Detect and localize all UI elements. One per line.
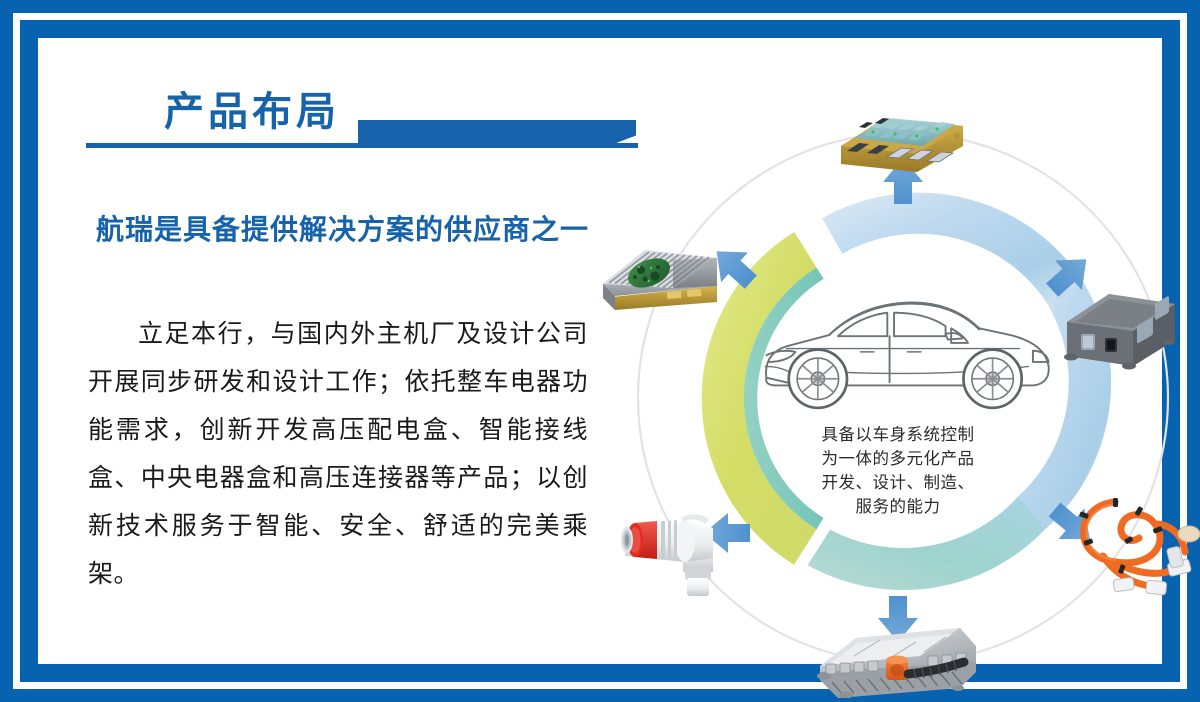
heading-accent-bar <box>358 120 636 145</box>
page-title: 产品布局 <box>164 87 340 137</box>
section-body-text: 立足本行，与国内外主机厂及设计公司开展同步研发和设计工作；依托整车电器功能需求，… <box>88 310 588 598</box>
ring-arc-teal <box>808 496 1046 590</box>
product-layout-diagram: 具备以车身系统控制 为一体的多元化产品 开发、设计、制造、 服务的能力 <box>593 98 1200 698</box>
slide-root: 产品布局 航瑞是具备提供解决方案的供应商之一 立足本行，与国内外主机厂及设计公司… <box>0 0 1200 702</box>
section-subtitle: 航瑞是具备提供解决方案的供应商之一 <box>96 208 589 248</box>
sedan-car-outline <box>765 303 1049 408</box>
heading-block: 产品布局 <box>86 90 646 152</box>
product-central-electrical-box <box>817 628 976 698</box>
slide-canvas: 产品布局 航瑞是具备提供解决方案的供应商之一 立足本行，与国内外主机厂及设计公司… <box>38 38 1162 664</box>
product-hv-connector <box>621 514 713 596</box>
product-smart-junction-box <box>841 118 963 172</box>
ring-arc-blue <box>822 193 1081 302</box>
product-hv-cable-harness <box>1079 498 1200 595</box>
product-ecu-heatsink-module <box>603 250 717 310</box>
